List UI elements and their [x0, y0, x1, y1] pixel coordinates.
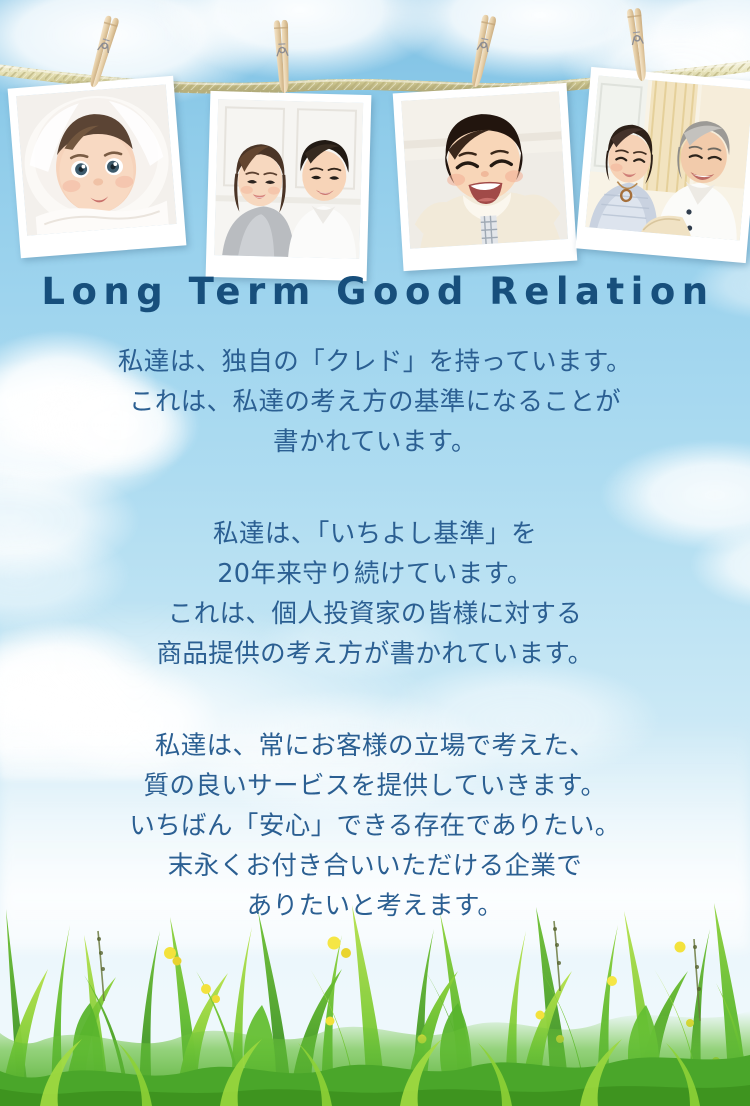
page-title: Long Term Good Relation: [0, 270, 750, 314]
photo-child-image: [401, 91, 568, 248]
photo-senior-couple: [575, 67, 750, 263]
photo-baby-image: [16, 84, 177, 235]
photo-young-couple-image: [214, 99, 363, 259]
paragraph-line: 私達は、常にお客様の立場で考えた、: [155, 731, 595, 761]
poster-canvas: Long Term Good Relation 私達は、独自の「クレド」を持って…: [0, 0, 750, 1106]
paragraph-line: 私達は、独自の「クレド」を持っています。: [118, 347, 632, 377]
paragraph-line: 書かれています。: [273, 427, 477, 457]
paragraph-line: いちばん「安心」できる存在でありたい。: [129, 811, 620, 841]
paragraph-ichiyoshi-standard: 私達は、「いちよし基準」を 20年来守り続けています。 これは、個人投資家の皆様…: [0, 514, 750, 674]
paragraph-line: 商品提供の考え方が書かれています。: [157, 639, 594, 669]
paragraph-line: 質の良いサービスを提供していきます。: [144, 771, 607, 801]
photo-senior-couple-image: [585, 76, 750, 241]
paragraph-line: 末永くお付き合いいただける企業で: [168, 851, 582, 881]
photo-child: [393, 83, 578, 271]
paragraph-line: 20年来守り続けています。: [217, 559, 533, 589]
grass-foreground: [0, 891, 750, 1106]
paragraph-line: 私達は、「いちよし基準」を: [213, 519, 537, 549]
paragraph-line: これは、私達の考え方の基準になることが: [129, 387, 621, 417]
photo-young-couple: [206, 91, 372, 281]
photo-baby: [8, 76, 187, 259]
text-content: Long Term Good Relation 私達は、独自の「クレド」を持って…: [0, 270, 750, 926]
paragraph-line: これは、個人投資家の皆様に対する: [168, 599, 582, 629]
paragraph-credo: 私達は、独自の「クレド」を持っています。 これは、私達の考え方の基準になることが…: [0, 342, 750, 462]
